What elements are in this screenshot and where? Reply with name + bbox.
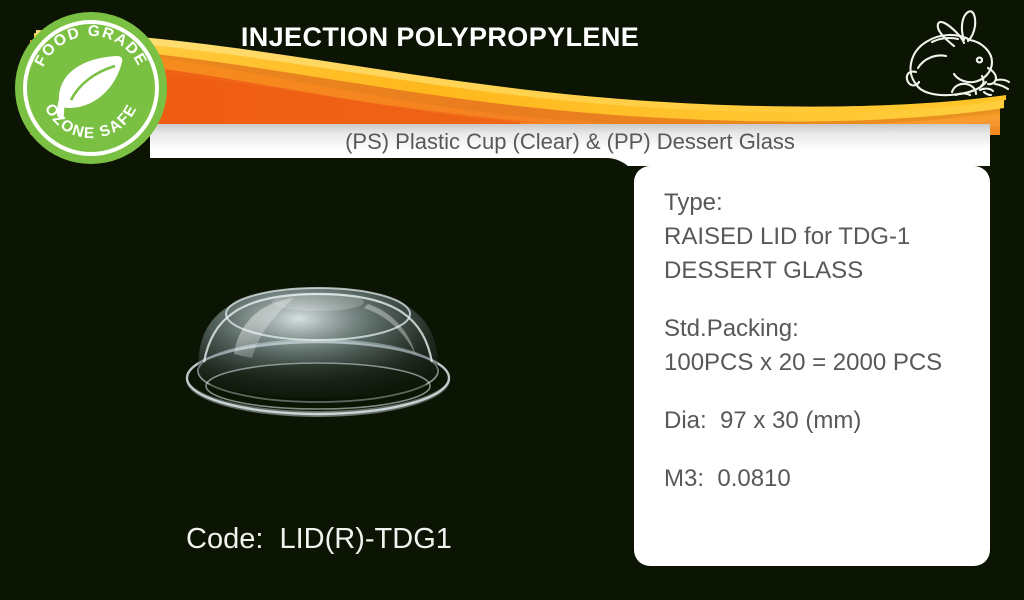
product-code: Code: LID(R)-TDG1	[186, 523, 452, 556]
food-grade-badge: FOOD GRADE OZONE SAFE	[13, 10, 169, 166]
product-info-card: Type:RAISED LID for TDG-1DESSERT GLASSSt…	[634, 166, 990, 566]
info-line: 100PCS x 20 = 2000 PCS	[664, 346, 976, 380]
info-line: DESSERT GLASS	[664, 254, 976, 288]
subtitle-text: (PS) Plastic Cup (Clear) & (PP) Dessert …	[150, 129, 990, 155]
info-line: RAISED LID for TDG-1	[664, 220, 976, 254]
info-line: Type:	[664, 186, 976, 220]
info-line-spacer	[664, 380, 976, 404]
info-line: Dia: 97 x 30 (mm)	[664, 404, 976, 438]
product-spec-sheet: INJECTION POLYPROPYLENE	[0, 0, 1024, 600]
product-info-list: Type:RAISED LID for TDG-1DESSERT GLASSSt…	[664, 186, 976, 496]
info-line: M3: 0.0810	[664, 462, 976, 496]
info-line-spacer	[664, 438, 976, 462]
info-line: Std.Packing:	[664, 312, 976, 346]
info-line-spacer	[664, 288, 976, 312]
rabbit-icon	[896, 6, 1016, 121]
product-photo-raised-lid	[168, 258, 468, 433]
